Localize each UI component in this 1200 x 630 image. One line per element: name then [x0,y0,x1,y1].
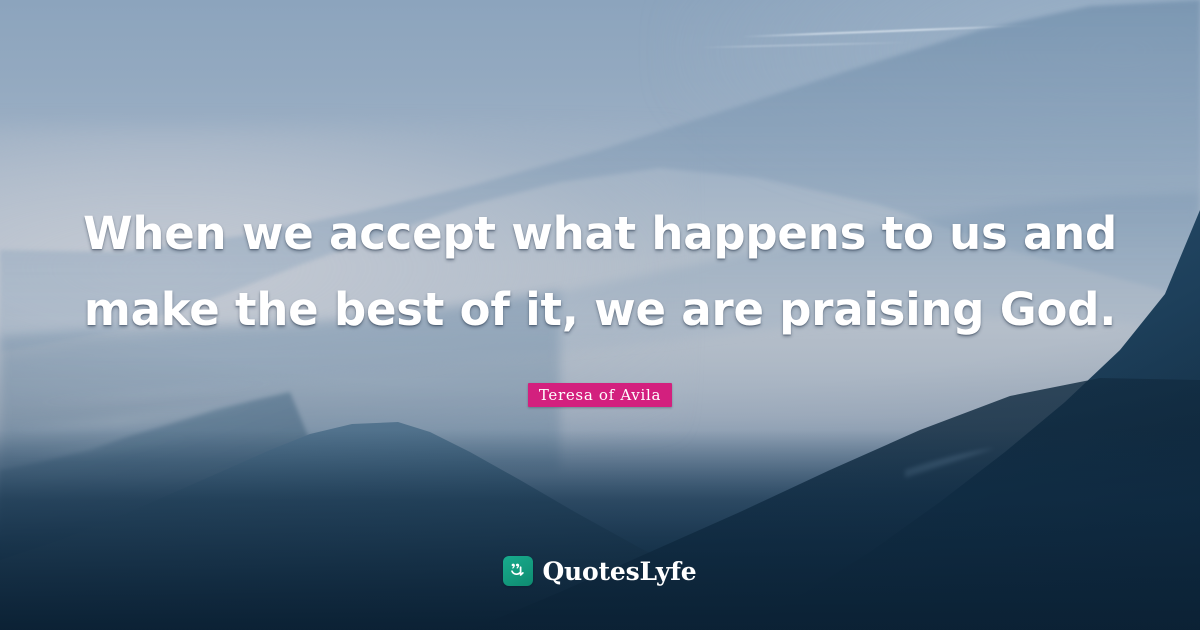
quote-card: When we accept what happens to us and ma… [0,0,1200,630]
brand-logo[interactable]: QuotesLyfe [0,556,1200,586]
quote-text: When we accept what happens to us and ma… [56,196,1144,348]
author-badge[interactable]: Teresa of Avila [528,383,672,407]
author-row: Teresa of Avila [0,383,1200,407]
quote-block: When we accept what happens to us and ma… [0,196,1200,348]
bottom-shade [0,430,1200,630]
quote-mark-icon [503,556,533,586]
brand-name: QuotesLyfe [542,559,696,584]
